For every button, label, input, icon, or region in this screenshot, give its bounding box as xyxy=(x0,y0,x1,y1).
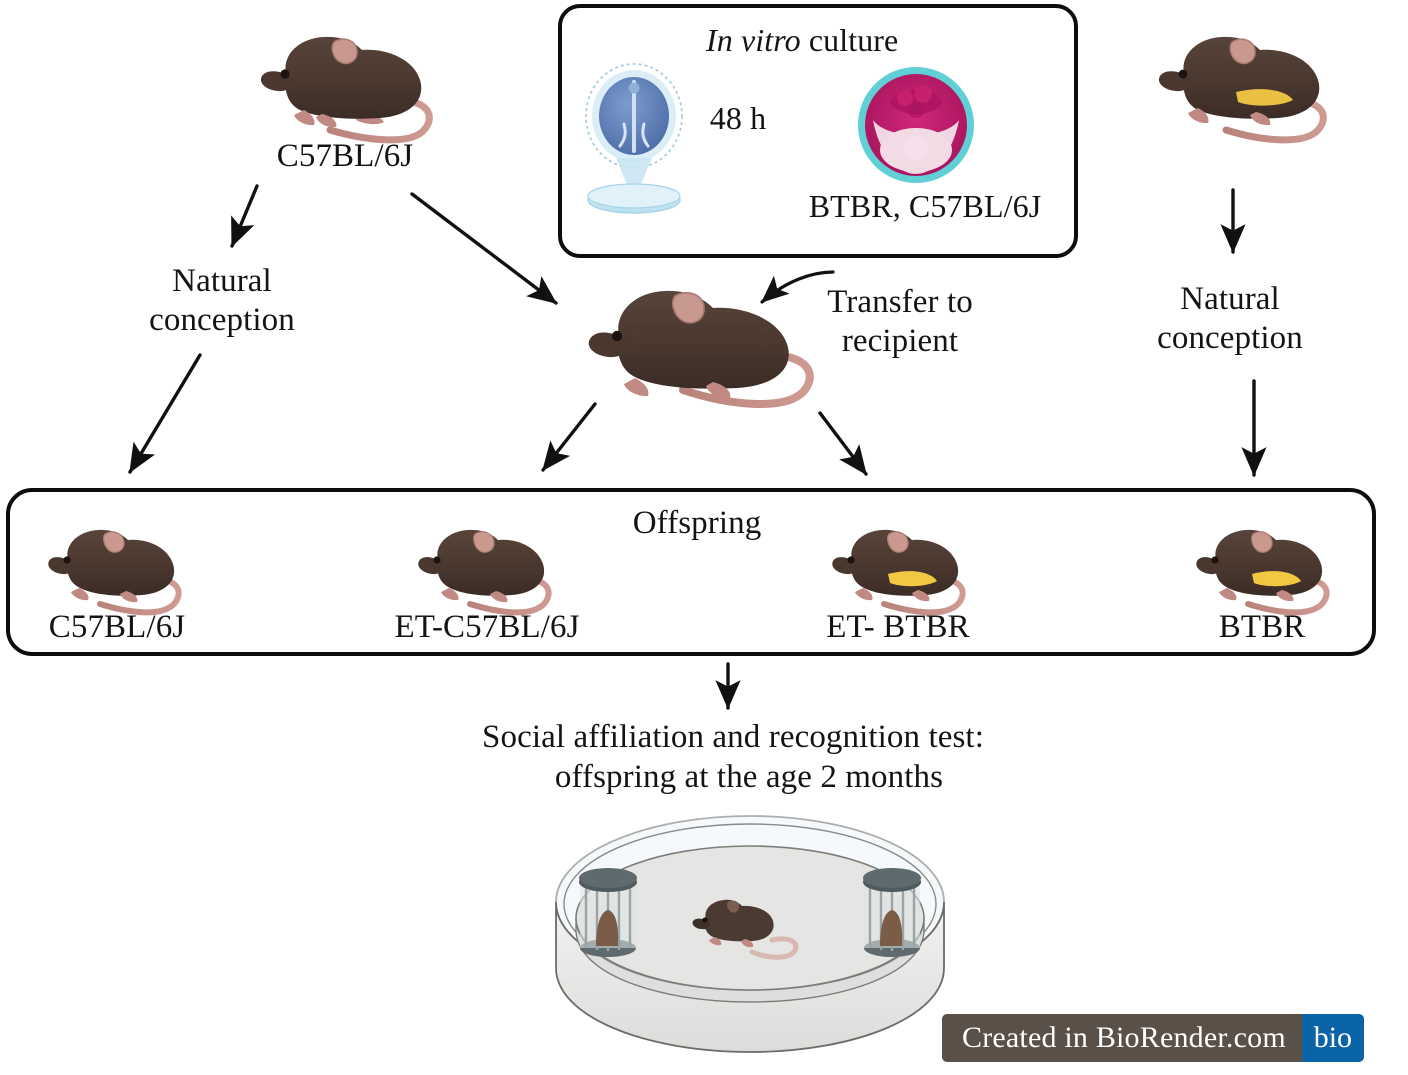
parent-mouse-c57bl6j xyxy=(238,18,448,148)
three-chamber-social-test-arena xyxy=(540,810,960,1060)
offspring-label-0: C57BL/6J xyxy=(49,608,186,647)
social-test-caption-line1: Social affiliation and recognition test: xyxy=(482,718,984,757)
in-vitro-rest: culture xyxy=(801,22,899,58)
offspring-mouse-et-btbr xyxy=(818,518,978,618)
recipient-mouse xyxy=(565,278,833,418)
offspring-mouse-btbr xyxy=(1182,518,1342,618)
in-vitro-strains-label: BTBR, C57BL/6J xyxy=(809,188,1042,226)
arrow-natural-left-to-offspring xyxy=(130,355,200,472)
offspring-mouse-c57bl6j xyxy=(34,518,194,618)
parent-label-c57bl6j: C57BL/6J xyxy=(277,137,414,176)
biorender-watermark-text: Created in BioRender.com xyxy=(942,1014,1302,1062)
parent-mouse-btbr xyxy=(1140,20,1340,148)
transfer-to-recipient-label: Transfer torecipient xyxy=(827,283,973,361)
two-cell-embryo-in-pipette-icon xyxy=(568,58,700,225)
in-vitro-culture-title: In vitro culture xyxy=(706,22,898,60)
incubation-duration-label: 48 h xyxy=(710,100,766,138)
natural-conception-left-label: Naturalconception xyxy=(149,262,295,340)
offspring-label-3: BTBR xyxy=(1219,608,1306,647)
in-vitro-italic: In vitro xyxy=(706,22,801,58)
offspring-label-2: ET- BTBR xyxy=(826,608,970,647)
biorender-watermark-badge: bio xyxy=(1302,1014,1364,1062)
arrow-c57-to-natural-left xyxy=(232,186,257,246)
offspring-mouse-et-c57bl6j xyxy=(404,518,564,618)
wire-cage-right xyxy=(863,868,921,957)
offspring-panel-title: Offspring xyxy=(633,504,762,543)
blastocyst-icon xyxy=(853,62,979,193)
arrow-c57-to-recipient xyxy=(412,194,556,303)
social-test-caption-line2: offspring at the age 2 months xyxy=(555,758,943,797)
offspring-label-1: ET-C57BL/6J xyxy=(394,608,579,647)
figure-canvas: C57BL/6J In vitro culture xyxy=(0,0,1408,1075)
natural-conception-right-label: Naturalconception xyxy=(1157,280,1303,358)
biorender-watermark: Created in BioRender.com bio xyxy=(942,1014,1364,1062)
wire-cage-left xyxy=(579,868,637,957)
arrow-recipient-to-et-btbr xyxy=(820,413,866,474)
